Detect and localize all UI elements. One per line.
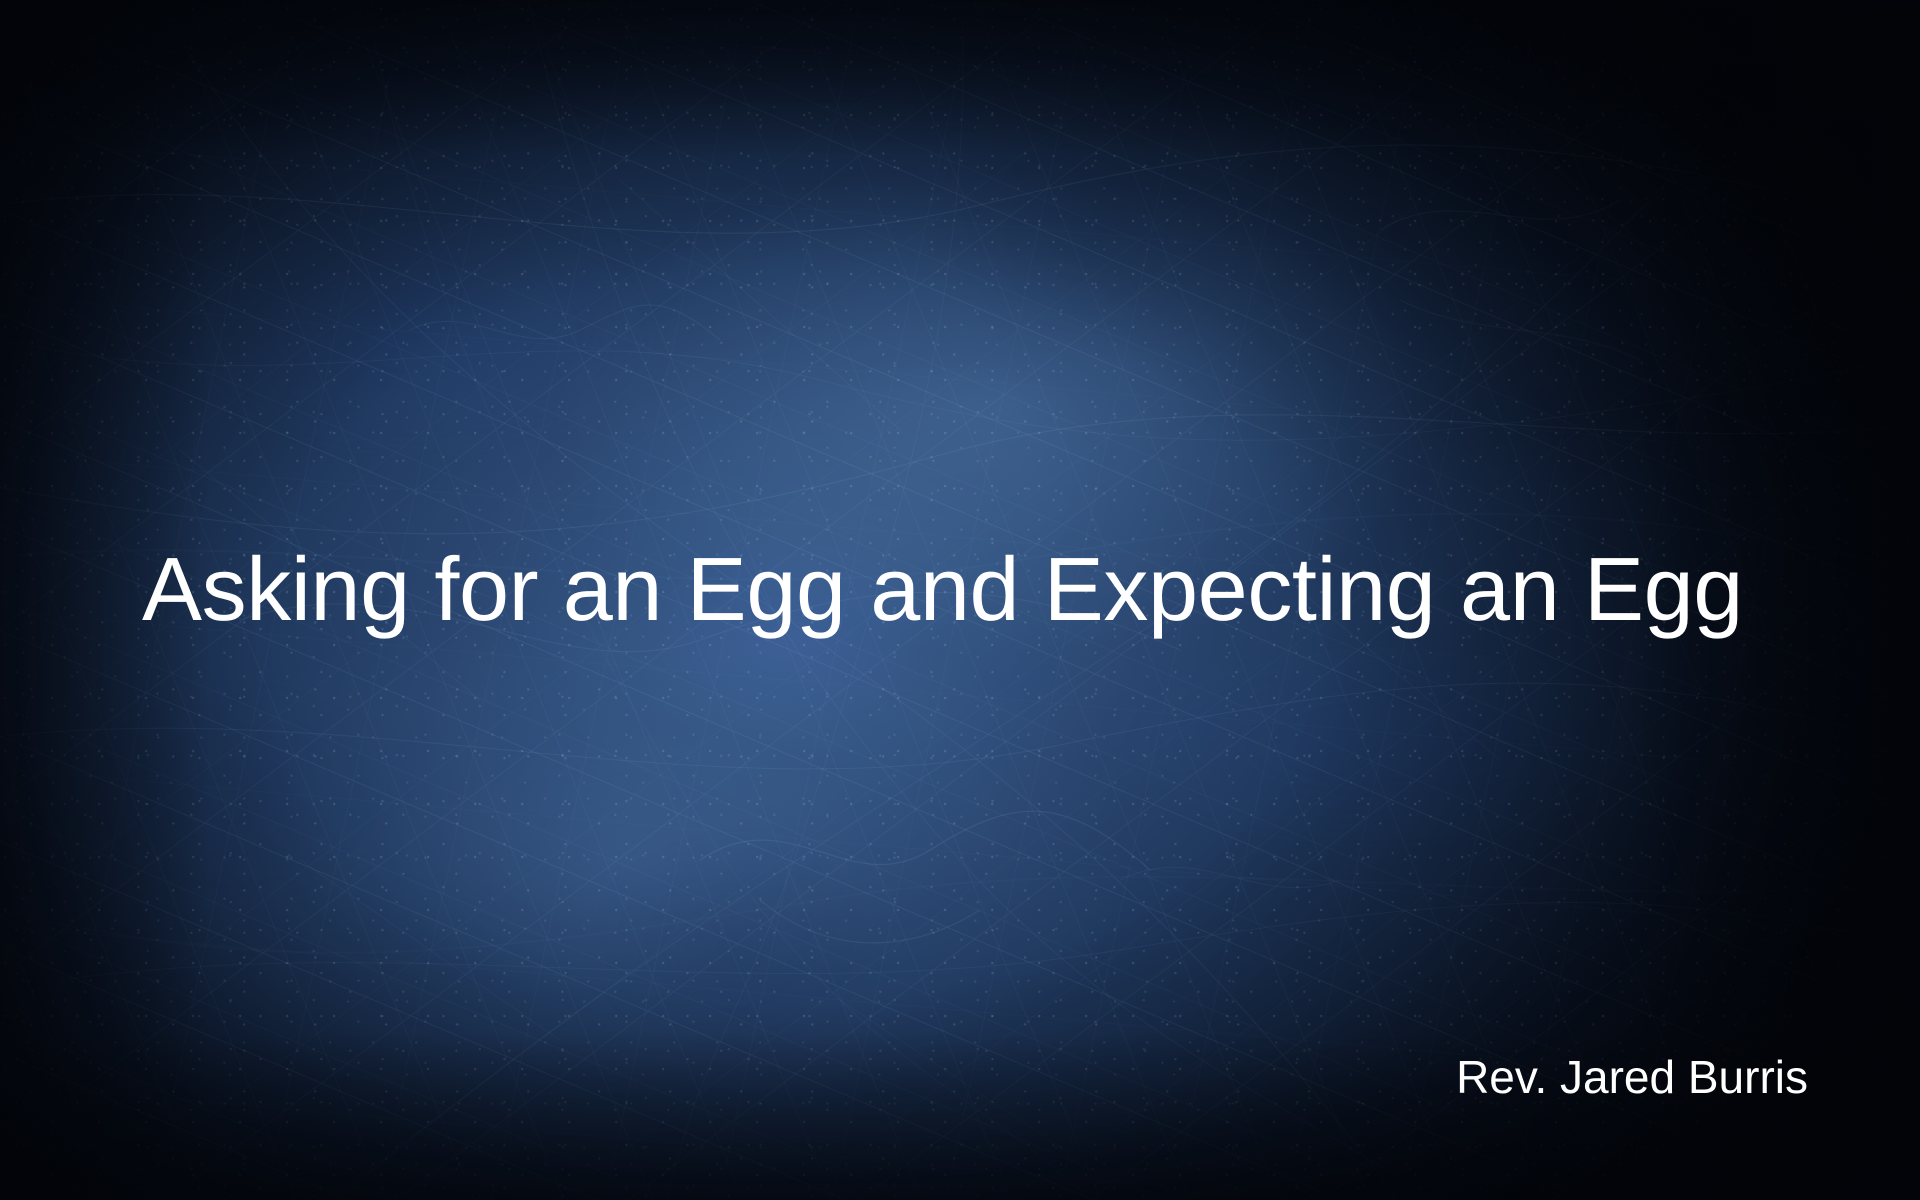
slide-title: Asking for an Egg and Expecting an Egg	[142, 545, 1822, 635]
slide-byline: Rev. Jared Burris	[1456, 1054, 1808, 1100]
slide-text-layer: Asking for an Egg and Expecting an Egg R…	[0, 0, 1920, 1200]
presentation-slide: Asking for an Egg and Expecting an Egg R…	[0, 0, 1920, 1200]
